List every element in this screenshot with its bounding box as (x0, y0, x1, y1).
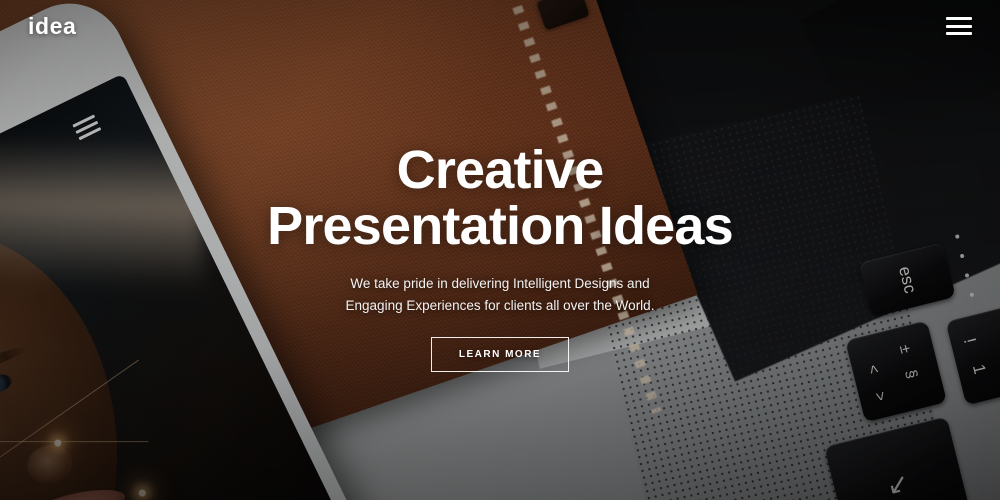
top-navigation-bar: idea (0, 0, 1000, 52)
hero-subtitle: We take pride in delivering Intelligent … (332, 273, 668, 317)
hero-section: esc ± § < > ! 1 ↘ (0, 0, 1000, 500)
learn-more-button[interactable]: LEARN MORE (431, 337, 569, 372)
headline-line-2: Presentation Ideas (267, 198, 733, 254)
page-title: Creative Presentation Ideas (267, 142, 733, 254)
hero-content: Creative Presentation Ideas We take prid… (0, 0, 1000, 500)
hamburger-menu-icon[interactable] (946, 17, 972, 35)
site-logo[interactable]: idea (28, 13, 76, 40)
headline-line-1: Creative (397, 140, 604, 200)
